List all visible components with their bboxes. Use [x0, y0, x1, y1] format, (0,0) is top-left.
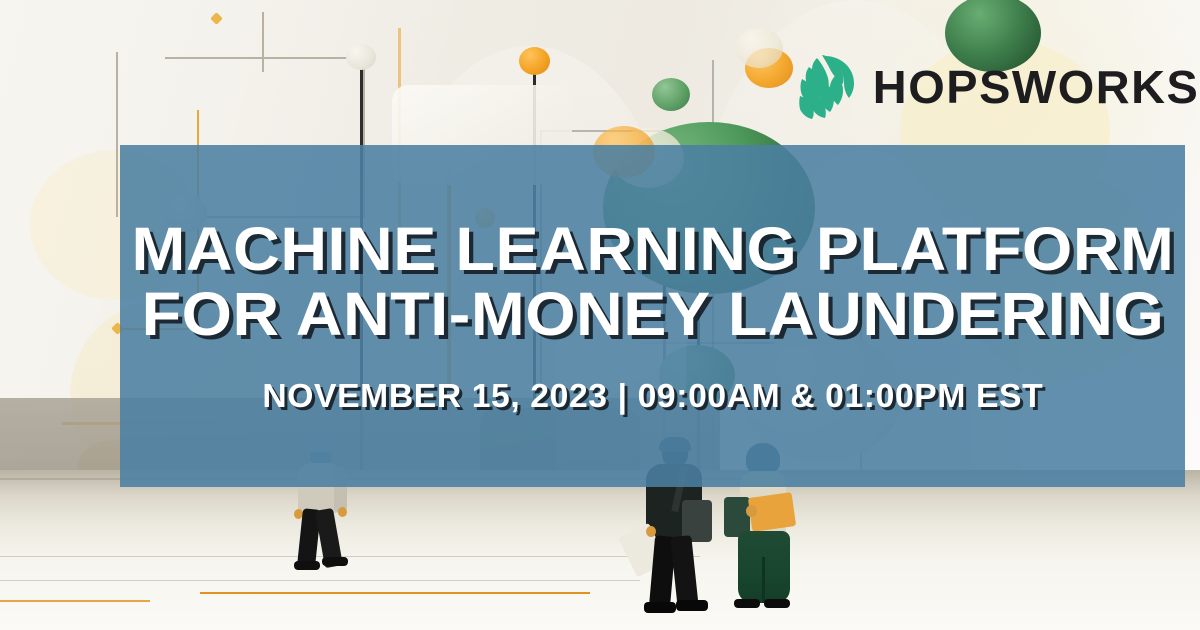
- page-title: MACHINE LEARNING PLATFORM FOR ANTI-MONEY…: [131, 217, 1174, 348]
- figure-center-hand: [646, 526, 656, 537]
- trace-v-tall-right: [262, 12, 264, 72]
- headline-overlay-band: MACHINE LEARNING PLATFORM FOR ANTI-MONEY…: [120, 145, 1185, 487]
- figure-right-trouser-split: [762, 557, 765, 603]
- figure-left-hand: [338, 507, 347, 517]
- webinar-banner: MACHINE LEARNING PLATFORM FOR ANTI-MONEY…: [0, 0, 1200, 630]
- event-details: NOVEMBER 15, 2023 | 09:00AM & 01:00PM ES…: [262, 377, 1043, 415]
- figure-right-shoe-a: [734, 599, 760, 608]
- floor-orange-line-b: [0, 600, 150, 602]
- trace-v-left: [116, 52, 118, 217]
- hop-cone-icon: [792, 52, 862, 122]
- figure-center-shoe-b: [676, 600, 708, 611]
- headline-line-2: FOR ANTI-MONEY LAUNDERING: [131, 282, 1174, 347]
- floor-edge-line-c: [0, 580, 640, 581]
- sphere-cream-right: [735, 28, 783, 68]
- overlay-band-content: MACHINE LEARNING PLATFORM FOR ANTI-MONEY…: [120, 145, 1185, 487]
- figure-left-shoe-b: [322, 557, 348, 566]
- brand-wordmark: HOPSWORKS: [873, 64, 1200, 110]
- sphere-green-tiny: [652, 78, 690, 111]
- sphere-orange-top: [519, 47, 550, 75]
- floor-orange-line: [200, 592, 590, 594]
- figure-center-leg-b: [670, 535, 698, 609]
- brand-logo[interactable]: HOPSWORKS: [792, 52, 1196, 122]
- figure-right-shoe-b: [764, 599, 790, 608]
- sphere-pale-a: [346, 44, 376, 70]
- floor-surface: [0, 470, 1200, 630]
- figure-right-hand: [746, 505, 757, 517]
- trace-h-top: [165, 57, 365, 59]
- headline-line-1: MACHINE LEARNING PLATFORM: [131, 217, 1174, 282]
- figure-left-shoe-a: [294, 561, 320, 570]
- figure-center-shoe-a: [644, 602, 676, 613]
